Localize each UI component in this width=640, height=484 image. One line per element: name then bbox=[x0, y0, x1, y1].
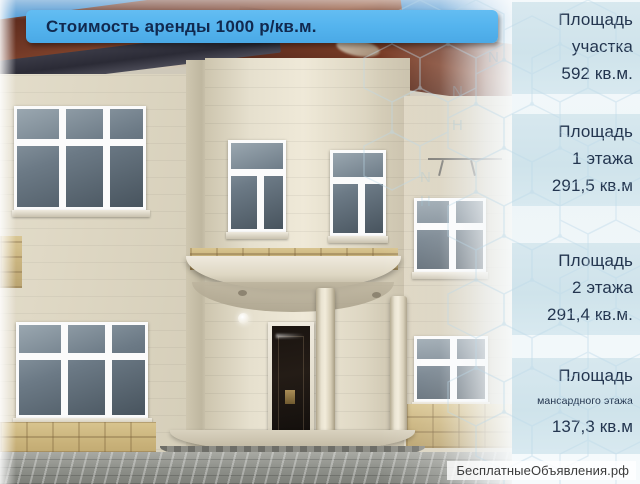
price-banner-text: Стоимость аренды 1000 р/кв.м. bbox=[46, 17, 317, 37]
door-panel bbox=[278, 336, 304, 436]
info-value: 137,3 кв.м bbox=[516, 413, 633, 440]
stone-plinth-corner bbox=[0, 236, 22, 288]
window-transom bbox=[417, 359, 485, 366]
spotlight bbox=[238, 290, 247, 296]
window-right-upper bbox=[414, 198, 486, 272]
spotlight bbox=[372, 292, 381, 298]
info-panel-column: Площадь участка 592 кв.м. Площадь 1 этаж… bbox=[512, 0, 640, 484]
info-line: участка bbox=[516, 33, 633, 60]
info-value: 291,4 кв.м. bbox=[516, 301, 633, 328]
window-rotunda-upper-right bbox=[330, 150, 386, 236]
listing-image: Площадь участка 592 кв.м. Площадь 1 этаж… bbox=[0, 0, 640, 484]
info-panel-plot-area: Площадь участка 592 кв.м. bbox=[512, 2, 640, 94]
info-line: 2 этажа bbox=[516, 274, 633, 301]
window-mullion bbox=[59, 109, 66, 207]
door-handle bbox=[285, 390, 295, 404]
window-rotunda-upper bbox=[228, 140, 286, 232]
paving bbox=[0, 452, 512, 484]
window-sill bbox=[412, 272, 488, 279]
porch-column-left bbox=[316, 288, 335, 440]
window-glass bbox=[19, 325, 145, 415]
door-glint bbox=[276, 334, 304, 338]
stone-plinth-right bbox=[406, 404, 512, 448]
porch-lamp bbox=[238, 313, 249, 324]
window-mullion bbox=[103, 109, 110, 207]
window-lower-left bbox=[16, 322, 148, 418]
roof-railing bbox=[428, 158, 502, 176]
info-value: 291,5 кв.м bbox=[516, 172, 633, 199]
window-mullion bbox=[257, 169, 264, 229]
window-glass bbox=[17, 109, 143, 207]
site-watermark: БесплатныеОбъявления.рф bbox=[447, 461, 636, 480]
window-right-lower bbox=[414, 336, 488, 402]
house-photo bbox=[0, 0, 512, 484]
window-mullion bbox=[358, 177, 365, 233]
window-transom bbox=[17, 139, 143, 146]
info-line: 1 этажа bbox=[516, 145, 633, 172]
info-panel-first-floor-area: Площадь 1 этажа 291,5 кв.м bbox=[512, 114, 640, 206]
info-line: Площадь bbox=[516, 362, 633, 389]
window-sill bbox=[328, 236, 388, 243]
info-line: Площадь bbox=[516, 247, 633, 274]
info-line: Площадь bbox=[516, 6, 633, 33]
info-line: Площадь bbox=[516, 118, 633, 145]
window-mullion bbox=[450, 339, 457, 399]
window-mullion bbox=[449, 201, 456, 269]
info-panel-attic-floor-area: Площадь мансардного этажа 137,3 кв.м bbox=[512, 358, 640, 454]
window-upper-left bbox=[14, 106, 146, 210]
window-sill bbox=[12, 210, 150, 217]
window-transom bbox=[417, 223, 483, 230]
porch-column-right bbox=[390, 296, 407, 436]
info-line-secondary: мансардного этажа bbox=[516, 389, 633, 413]
window-sill bbox=[226, 232, 288, 239]
info-value: 592 кв.м. bbox=[516, 60, 633, 87]
price-banner: Стоимость аренды 1000 р/кв.м. bbox=[26, 10, 498, 43]
window-mullion bbox=[61, 325, 68, 415]
info-panel-second-floor-area: Площадь 2 этажа 291,4 кв.м. bbox=[512, 243, 640, 335]
window-transom bbox=[19, 353, 145, 360]
window-mullion bbox=[105, 325, 112, 415]
